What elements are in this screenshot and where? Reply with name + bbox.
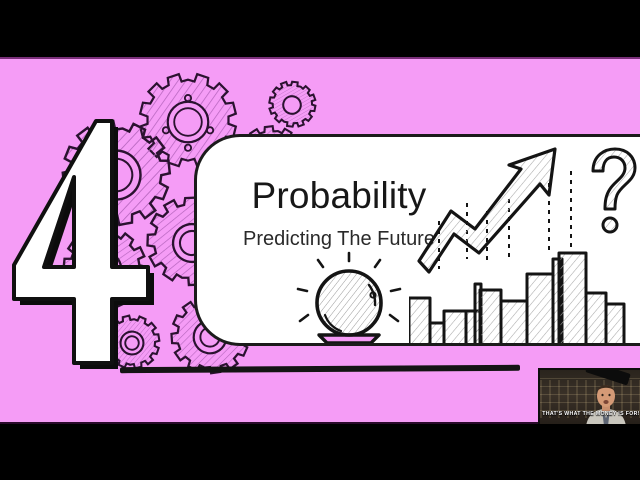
webcam-caption: THAT'S WHAT THE MONEY IS FOR! [540, 411, 640, 417]
presenter-figure [584, 384, 628, 426]
slide-number-four [8, 117, 188, 367]
crystal-ball-icon [295, 255, 403, 346]
webcam-overlay[interactable]: THAT'S WHAT THE MONEY IS FOR! [538, 368, 640, 428]
content-card: Probability Predicting The Future [194, 134, 640, 346]
letterbox-top [0, 0, 640, 57]
letterbox-bottom [0, 424, 640, 480]
bar-chart-icon [409, 141, 640, 346]
video-frame: Probability Predicting The Future [0, 0, 640, 480]
underline-stroke [120, 365, 520, 373]
